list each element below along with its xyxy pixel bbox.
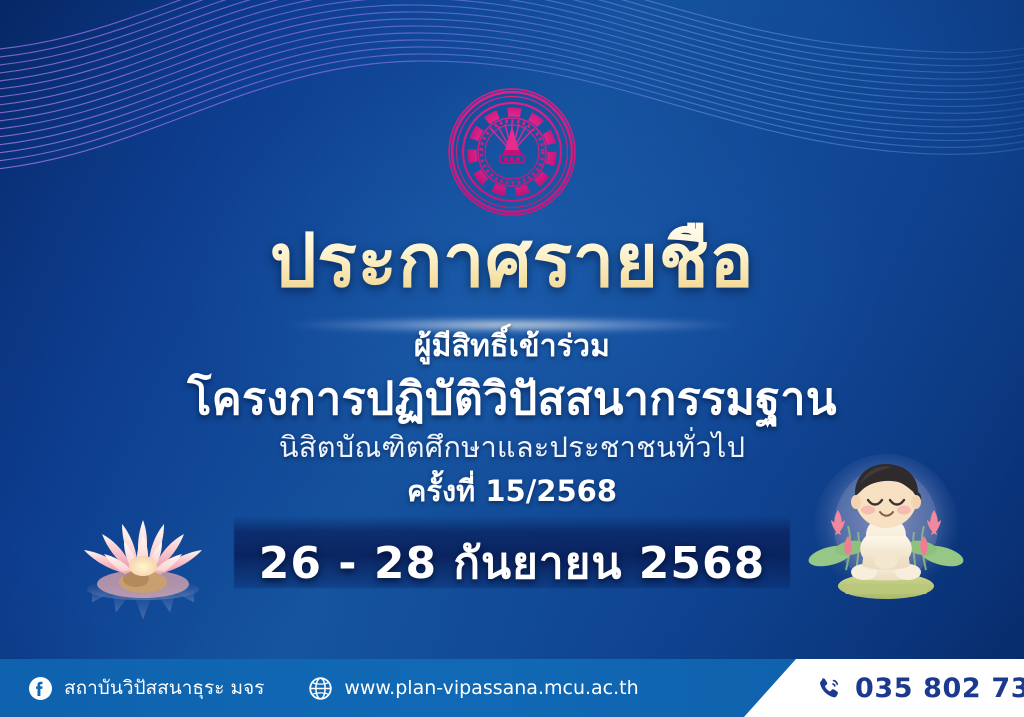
phone-call-icon <box>816 675 843 702</box>
footer-facebook[interactable]: สถาบันวิปัสสนาธุระ มจร <box>28 673 264 703</box>
footer-website-label: www.plan-vipassana.mcu.ac.th <box>344 677 638 699</box>
lotus-flower-icon <box>62 492 224 632</box>
meditating-boy-illustration <box>800 448 972 614</box>
page-title: ประกาศรายชื่อ <box>0 222 1024 302</box>
footer-facebook-label: สถาบันวิปัสสนาธุระ มจร <box>64 673 264 703</box>
mcu-seal-icon <box>446 86 578 218</box>
facebook-icon <box>28 676 53 701</box>
footer-phone-number: 035 802 737 <box>855 673 1024 704</box>
poster-canvas: ประกาศรายชื่อ ผู้มีสิทธิ์เข้าร่วม โครงกา… <box>0 0 1024 717</box>
footer-website[interactable]: www.plan-vipassana.mcu.ac.th <box>308 676 638 701</box>
globe-icon <box>308 676 333 701</box>
